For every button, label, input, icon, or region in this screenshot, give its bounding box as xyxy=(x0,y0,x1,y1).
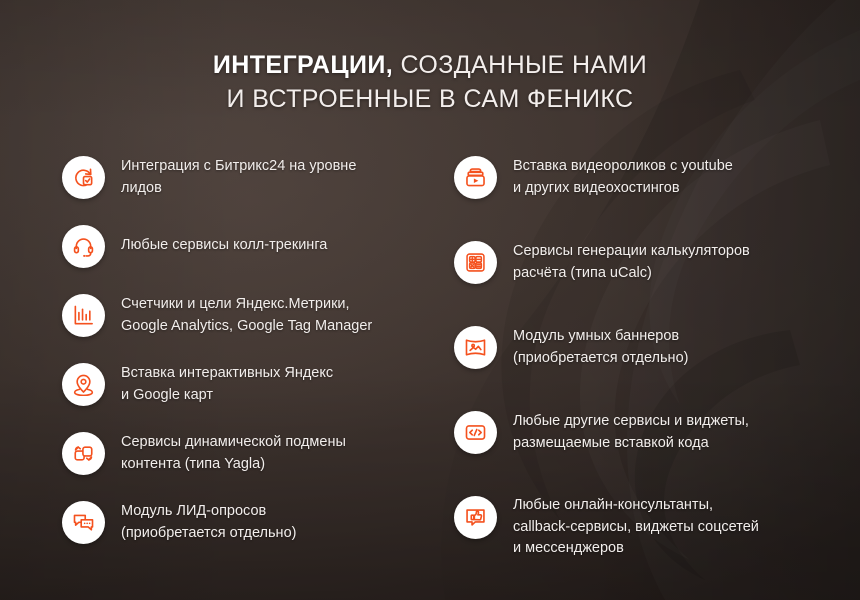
banner-image-icon xyxy=(464,336,487,359)
list-item: Сервисы генерации калькуляторов расчёта … xyxy=(454,240,834,284)
swap-blocks-icon xyxy=(72,442,95,465)
icon-badge xyxy=(454,411,497,454)
icon-badge xyxy=(62,225,105,268)
list-item-label: Модуль ЛИД-опросов (приобретается отдель… xyxy=(105,500,296,544)
icon-badge xyxy=(62,501,105,544)
list-item-label: Любые сервисы колл-трекинга xyxy=(105,224,327,257)
list-item-label: Любые другие сервисы и виджеты, размещае… xyxy=(497,410,749,454)
bar-chart-icon xyxy=(72,304,95,327)
list-item-label: Модуль умных баннеров (приобретается отд… xyxy=(497,325,688,369)
list-item: Вставка видеороликов с youtube и других … xyxy=(454,155,834,199)
calculator-icon xyxy=(464,251,487,274)
list-item: Модуль ЛИД-опросов (приобретается отдель… xyxy=(62,500,432,544)
code-brackets-icon xyxy=(464,421,487,444)
slide-root: ИНТЕГРАЦИИ, СОЗДАННЫЕ НАМИ И ВСТРОЕННЫЕ … xyxy=(0,0,860,600)
icon-badge xyxy=(454,156,497,199)
headset-icon xyxy=(72,235,95,258)
icon-badge xyxy=(62,432,105,475)
list-item: Любые сервисы колл-трекинга xyxy=(62,224,432,268)
icon-badge xyxy=(454,496,497,539)
map-pin-icon xyxy=(72,373,95,396)
list-item: Интеграция с Битрикс24 на уровне лидов xyxy=(62,155,432,199)
chat-bubbles-icon xyxy=(72,511,95,534)
list-item-label: Вставка интерактивных Яндекс и Google ка… xyxy=(105,362,333,406)
list-item: Любые онлайн-консультанты, callback-серв… xyxy=(454,495,834,560)
list-item: Счетчики и цели Яндекс.Метрики, Google A… xyxy=(62,293,432,337)
list-item-label: Счетчики и цели Яндекс.Метрики, Google A… xyxy=(105,293,372,337)
icon-badge xyxy=(62,294,105,337)
list-item-label: Вставка видеороликов с youtube и других … xyxy=(497,155,733,199)
page-title-line2: И ВСТРОЕННЫЕ В САМ ФЕНИКС xyxy=(0,82,860,116)
list-item-label: Сервисы динамической подмены контента (т… xyxy=(105,431,346,475)
integration-list-right: Вставка видеороликов с youtube и других … xyxy=(454,155,834,600)
list-item-label: Сервисы генерации калькуляторов расчёта … xyxy=(497,240,750,284)
list-item: Сервисы динамической подмены контента (т… xyxy=(62,431,432,475)
thumbs-up-chat-icon xyxy=(464,506,487,529)
icon-badge xyxy=(62,363,105,406)
integration-list-left: Интеграция с Битрикс24 на уровне лидов Л… xyxy=(62,155,432,569)
list-item-label: Любые онлайн-консультанты, callback-серв… xyxy=(497,495,759,560)
list-item: Модуль умных баннеров (приобретается отд… xyxy=(454,325,834,369)
icon-badge xyxy=(62,156,105,199)
list-item: Вставка интерактивных Яндекс и Google ка… xyxy=(62,362,432,406)
page-title-bold: ИНТЕГРАЦИИ, xyxy=(213,51,393,79)
icon-badge xyxy=(454,241,497,284)
list-item-label: Интеграция с Битрикс24 на уровне лидов xyxy=(105,155,356,199)
list-item: Любые другие сервисы и виджеты, размещае… xyxy=(454,410,834,454)
icon-badge xyxy=(454,326,497,369)
page-title: ИНТЕГРАЦИИ, СОЗДАННЫЕ НАМИ И ВСТРОЕННЫЕ … xyxy=(0,48,860,116)
refresh-checkbox-icon xyxy=(72,166,95,189)
page-title-line1-rest: СОЗДАННЫЕ НАМИ xyxy=(393,51,647,79)
video-play-icon xyxy=(464,166,487,189)
